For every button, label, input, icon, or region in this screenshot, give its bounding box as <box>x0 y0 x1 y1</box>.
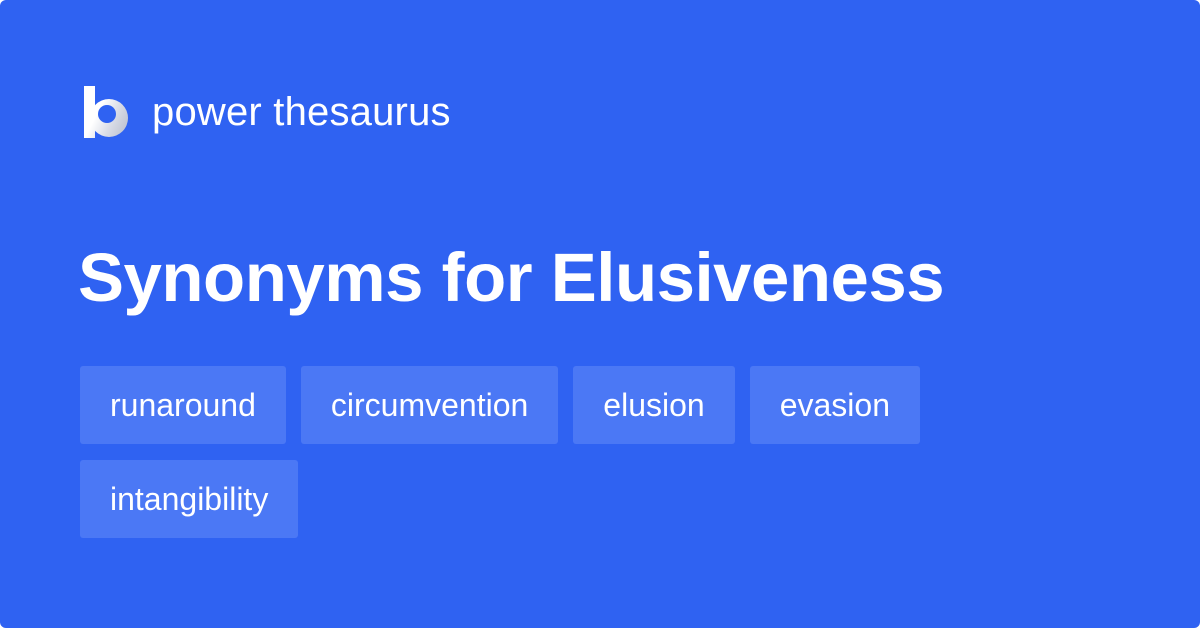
synonym-tag[interactable]: intangibility <box>80 460 298 538</box>
synonym-tag[interactable]: evasion <box>750 366 920 444</box>
synonym-tag[interactable]: runaround <box>80 366 286 444</box>
synonym-tag-list: runaround circumvention elusion evasion … <box>80 366 1130 538</box>
brand-header[interactable]: power thesaurus <box>80 84 451 140</box>
synonym-tag[interactable]: circumvention <box>301 366 558 444</box>
page-title: Synonyms for Elusiveness <box>78 242 1138 314</box>
power-thesaurus-b-logo-icon <box>80 84 130 140</box>
brand-name: power thesaurus <box>152 92 451 132</box>
share-card: power thesaurus Synonyms for Elusiveness… <box>0 0 1200 628</box>
synonym-tag[interactable]: elusion <box>573 366 734 444</box>
